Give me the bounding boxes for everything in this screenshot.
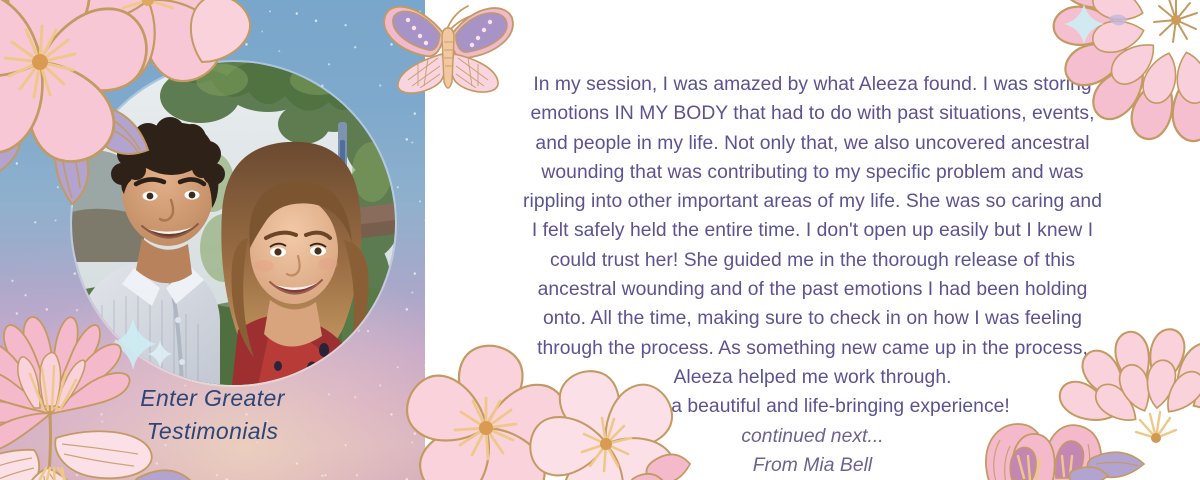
testimonial-text-panel: In my session, I was amazed by what Alee… (425, 0, 1200, 480)
testimonial-line: It was a beautiful and life-bringing exp… (455, 392, 1170, 421)
testimonial-graphic: Enter Greater Testimonials In my session… (0, 0, 1200, 480)
testimonial-body: In my session, I was amazed by what Alee… (455, 70, 1170, 480)
caption-line-1: Enter Greater (0, 382, 425, 415)
testimonial-line: could trust her! She guided me in the th… (455, 246, 1170, 275)
sparkle-star-icon (94, 352, 112, 379)
testimonial-line: rippling into other important areas of m… (455, 187, 1170, 216)
testimonial-line: wounding that was contributing to my spe… (455, 158, 1170, 187)
testimonial-line: ancestral wounding and of the past emoti… (455, 275, 1170, 304)
testimonial-line: through the process. As something new ca… (455, 334, 1170, 363)
panel-caption: Enter Greater Testimonials (0, 382, 425, 447)
testimonial-line: onto. All the time, making sure to check… (455, 304, 1170, 333)
attribution: From Mia Bell (455, 451, 1170, 480)
testimonial-line: I felt safely held the entire time. I do… (455, 216, 1170, 245)
testimonial-line: In my session, I was amazed by what Alee… (455, 70, 1170, 99)
testimonial-cover-panel: Enter Greater Testimonials (0, 0, 425, 480)
testimonial-line: emotions IN MY BODY that had to do with … (455, 99, 1170, 128)
client-photo (72, 62, 395, 385)
testimonial-line: and people in my life. Not only that, we… (455, 129, 1170, 158)
testimonial-line: Aleeza helped me work through. (455, 363, 1170, 392)
continued-note: continued next... (455, 422, 1170, 451)
caption-line-2: Testimonials (0, 415, 425, 448)
